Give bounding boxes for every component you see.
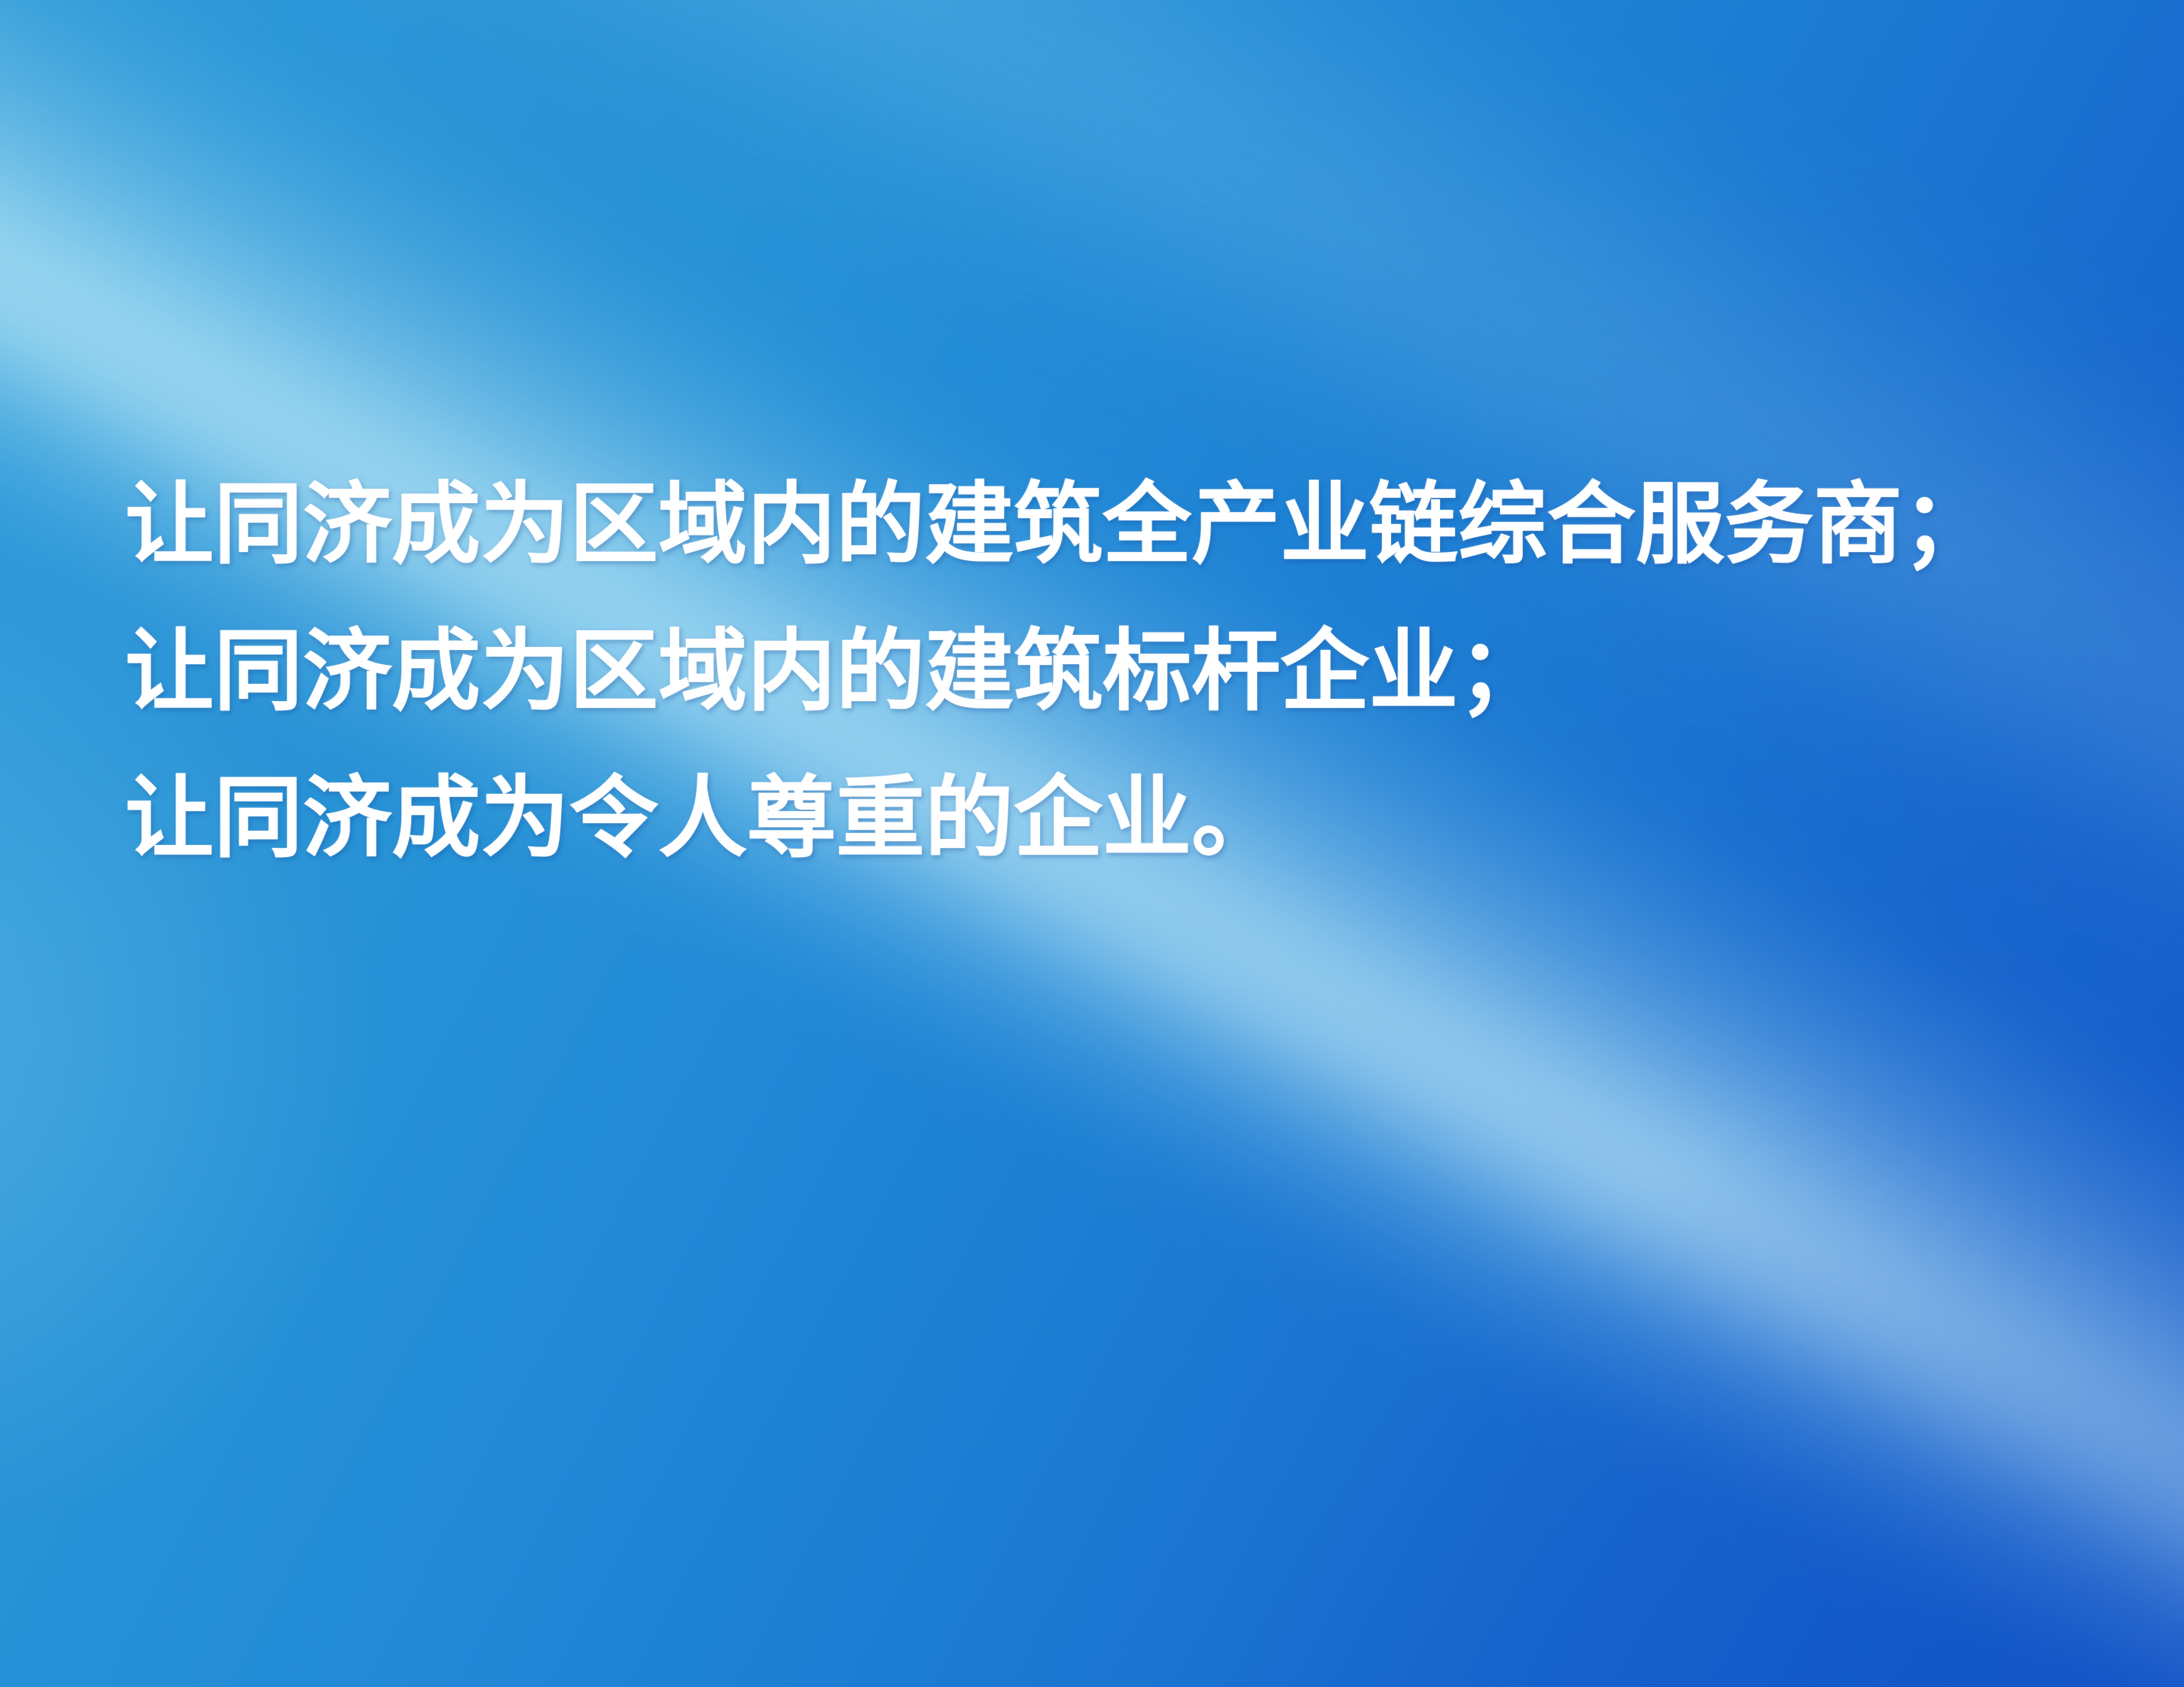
slide-canvas: 让同济成为区域内的建筑全产业链综合服务商； 让同济成为区域内的建筑标杆企业； 让…	[0, 0, 2184, 1687]
slide-line-2: 让同济成为区域内的建筑标杆企业；	[125, 599, 2083, 746]
slide-line-3: 让同济成为令人尊重的企业。	[125, 746, 2083, 892]
slide-text-block: 让同济成为区域内的建筑全产业链综合服务商； 让同济成为区域内的建筑标杆企业； 让…	[125, 452, 2083, 892]
slide-line-1: 让同济成为区域内的建筑全产业链综合服务商；	[125, 452, 2083, 599]
